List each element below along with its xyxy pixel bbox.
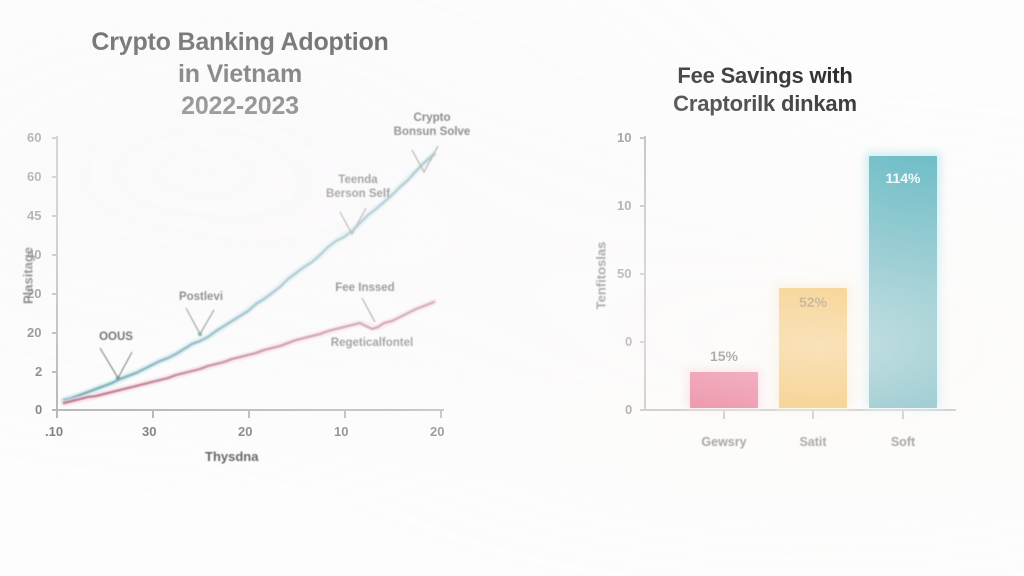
right-x-tick [812, 411, 814, 419]
bar-soft[interactable] [869, 156, 937, 408]
right-x-tick [723, 411, 725, 419]
bar-value-label-1: 15% [690, 348, 758, 364]
bar-gewsry[interactable] [690, 372, 758, 408]
right-y-tick [640, 409, 645, 411]
bar-category-label-2: Satit [779, 435, 847, 449]
bar-group [0, 0, 1024, 408]
bar-category-label-1: Gewsry [690, 435, 758, 449]
bar-category-label-3: Soft [869, 435, 937, 449]
bar-value-label-2: 52% [779, 294, 847, 310]
right-x-tick [902, 411, 904, 419]
figure-canvas: Crypto Banking Adoption in Vietnam 2022-… [0, 0, 1024, 576]
bar-value-label-3: 114% [869, 170, 937, 186]
right-x-axis-line [644, 409, 956, 411]
